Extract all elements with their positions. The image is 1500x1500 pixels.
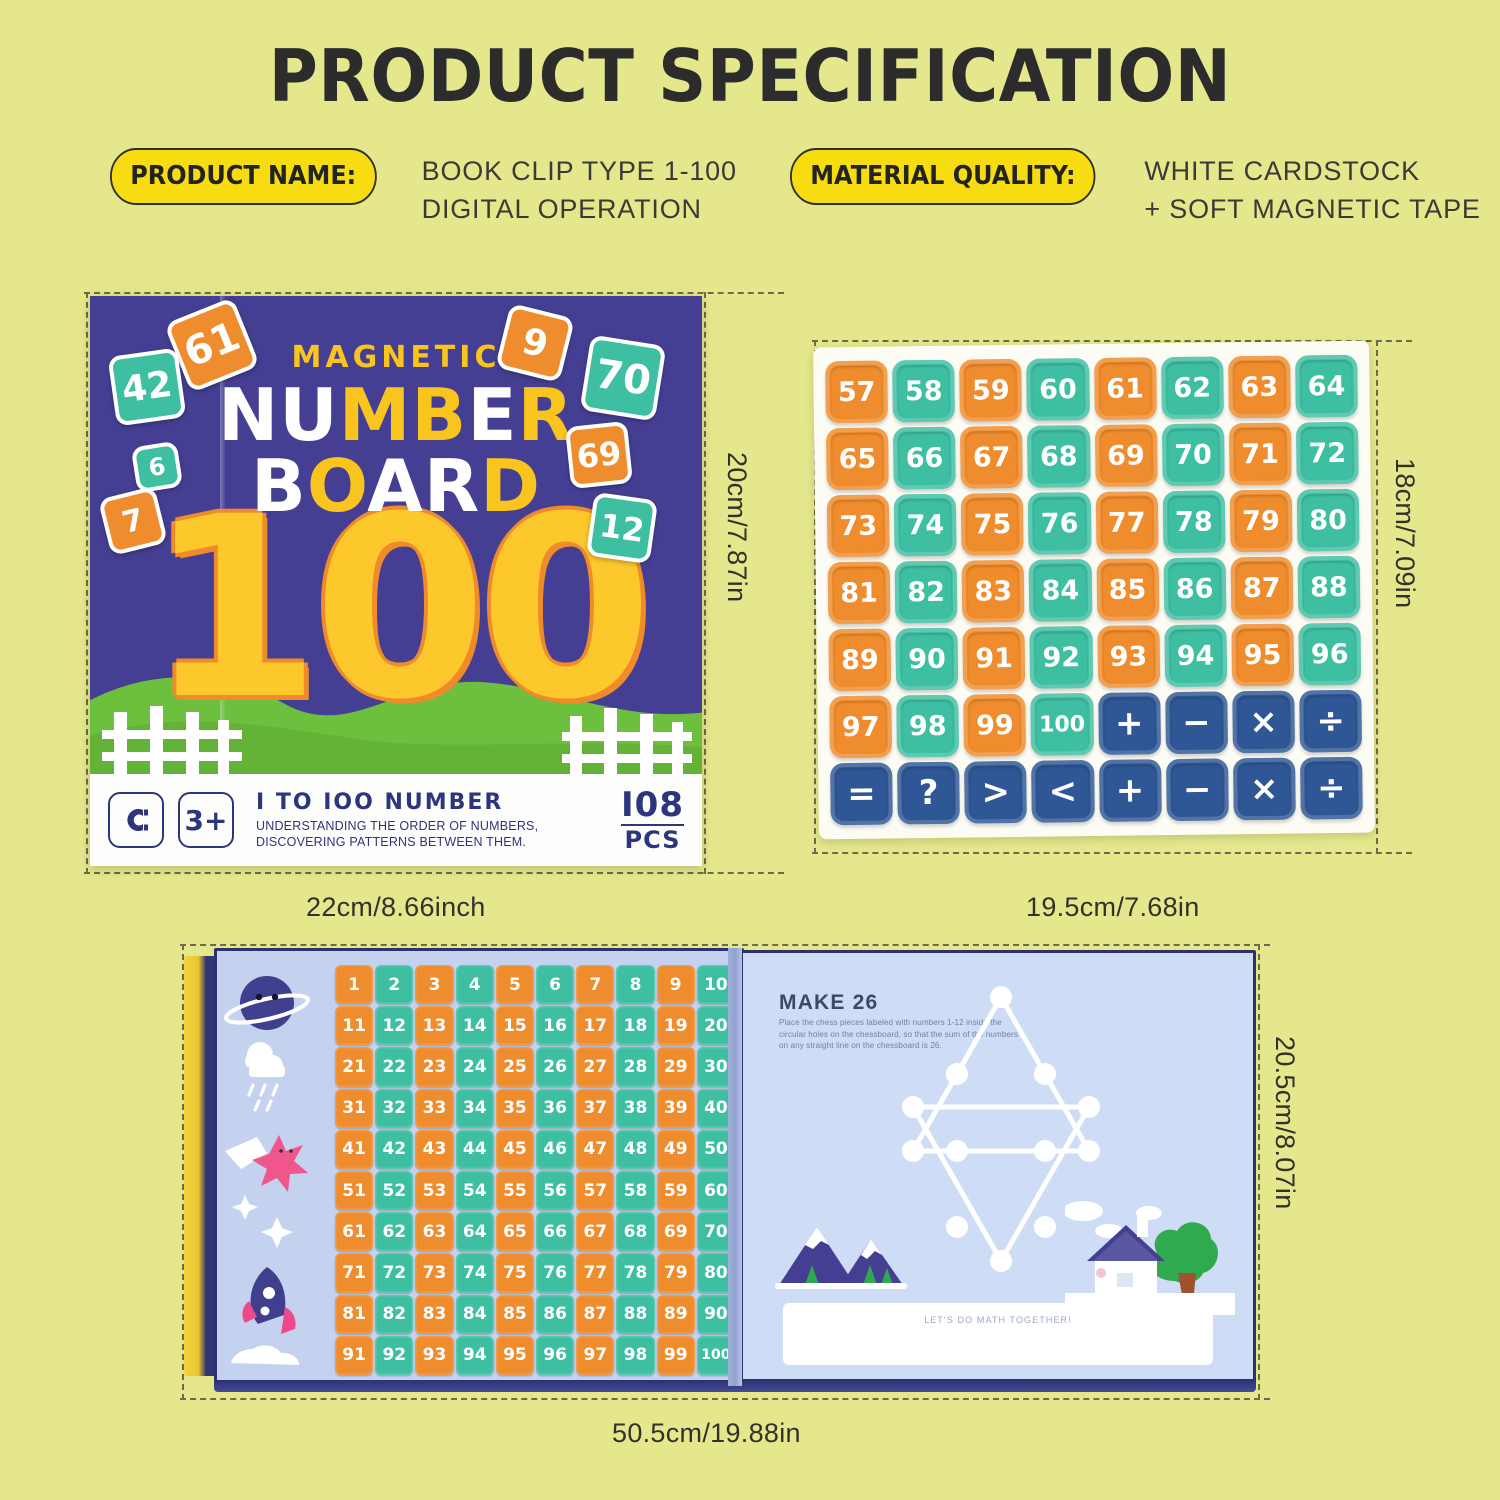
grid-number-tile[interactable]: 22 [375, 1047, 413, 1086]
box-guide-left [86, 292, 88, 874]
grid-number-tile[interactable]: 62 [375, 1212, 413, 1251]
planet-icon [224, 976, 310, 1030]
number-tile[interactable]: 61 [1094, 357, 1157, 420]
operator-tile[interactable]: × [1233, 758, 1296, 821]
house-tree-scene [1065, 1185, 1235, 1315]
grid-number-tile[interactable]: 24 [456, 1047, 494, 1086]
grid-number-tile[interactable]: 89 [657, 1295, 695, 1334]
grid-number-tile[interactable]: 95 [496, 1336, 534, 1375]
grid-number-tile[interactable]: 45 [496, 1130, 534, 1169]
grid-number-tile[interactable]: 85 [496, 1295, 534, 1334]
number-tile[interactable]: 79 [1230, 490, 1293, 553]
number-tile[interactable]: 60 [1027, 358, 1090, 421]
material-quality-value: WHITE CARDSTOCK + SOFT MAGNETIC TAPE [1144, 148, 1480, 229]
magnet-glyph [121, 805, 151, 835]
book-left-page: 1234567891011121314151617181920212223242… [214, 948, 744, 1386]
grid-number-tile[interactable]: 96 [536, 1336, 574, 1375]
grid-number-tile[interactable]: 5 [496, 965, 534, 1004]
magnet-icon [108, 792, 164, 848]
box-guide-bottom [84, 872, 784, 874]
spread-height-dim: 20.5cm/8.07in [1269, 1036, 1300, 1210]
product-box-cover: MAGNETIC NUMBER BOARD 100 6142679706912 … [90, 296, 702, 866]
number-tile[interactable]: 65 [826, 428, 889, 491]
grid-number-tile[interactable]: 38 [616, 1089, 654, 1128]
grid-number-tile[interactable]: 55 [496, 1171, 534, 1210]
operator-tile[interactable]: > [964, 761, 1027, 824]
grid-number-tile[interactable]: 4 [456, 965, 494, 1004]
grid-number-tile[interactable]: 17 [576, 1006, 614, 1045]
cover-headline: I TO IOO NUMBER [256, 790, 621, 815]
board-guide-right [1376, 340, 1378, 854]
spread-guide-top [180, 944, 1270, 946]
book-spine [728, 948, 742, 1386]
grid-number-tile[interactable]: 26 [536, 1047, 574, 1086]
grid-number-tile[interactable]: 33 [415, 1089, 453, 1128]
grid-number-tile[interactable]: 31 [335, 1089, 373, 1128]
grid-number-tile[interactable]: 3 [415, 965, 453, 1004]
operator-tile[interactable]: − [1166, 758, 1229, 821]
grid-number-tile[interactable]: 34 [456, 1089, 494, 1128]
grid-number-tile[interactable]: 21 [335, 1047, 373, 1086]
number-tile[interactable]: 98 [896, 695, 959, 758]
box-guide-top [84, 292, 784, 294]
grid-number-tile[interactable]: 68 [616, 1212, 654, 1251]
grid-number-tile[interactable]: 54 [456, 1171, 494, 1210]
space-decorations [223, 955, 319, 1385]
box-height-dim: 20cm/7.87in [721, 452, 752, 602]
number-tile[interactable]: 81 [828, 561, 891, 624]
grid-number-tile[interactable]: 69 [657, 1212, 695, 1251]
number-tile[interactable]: 84 [1029, 559, 1092, 622]
grid-number-tile[interactable]: 99 [657, 1336, 695, 1375]
cover-floating-tile: 42 [107, 347, 186, 426]
grid-number-tile[interactable]: 93 [415, 1336, 453, 1375]
pieces-number: I08 [621, 788, 684, 822]
number-tile[interactable]: 64 [1295, 355, 1358, 418]
grid-number-tile[interactable]: 64 [456, 1212, 494, 1251]
grid-number-tile[interactable]: 63 [415, 1212, 453, 1251]
cover-floating-tile: 12 [586, 492, 658, 564]
material-quality-label: MATERIAL QUALITY: [790, 148, 1096, 205]
number-tile[interactable]: 70 [1162, 423, 1225, 486]
number-tile[interactable]: 62 [1161, 356, 1224, 419]
grid-number-tile[interactable]: 41 [335, 1130, 373, 1169]
grid-number-tile[interactable]: 67 [576, 1212, 614, 1251]
grid-number-tile[interactable]: 84 [456, 1295, 494, 1334]
product-specification-page: PRODUCT SPECIFICATION PRODUCT NAME: BOOK… [0, 0, 1500, 1500]
grid-number-tile[interactable]: 52 [375, 1171, 413, 1210]
tree-icon [1151, 1222, 1218, 1303]
operator-tile[interactable]: ÷ [1299, 690, 1362, 753]
grid-number-tile[interactable]: 37 [576, 1089, 614, 1128]
number-tile[interactable]: 78 [1162, 490, 1225, 553]
spread-guide-right [1258, 944, 1260, 1400]
cloud-icon [1065, 1201, 1123, 1238]
spread-width-dim: 50.5cm/19.88in [612, 1418, 801, 1449]
grid-number-tile[interactable]: 27 [576, 1047, 614, 1086]
grid-number-tile[interactable]: 76 [536, 1253, 574, 1292]
box-guide-right [704, 292, 706, 874]
operator-tile[interactable]: + [1099, 759, 1162, 822]
shooting-star-icon [225, 1135, 308, 1192]
grid-number-tile[interactable]: 65 [496, 1212, 534, 1251]
number-tile[interactable]: 67 [960, 426, 1023, 489]
page-title: PRODUCT SPECIFICATION [53, 34, 1448, 118]
answer-box[interactable]: LET'S DO MATH TOGETHER! [783, 1303, 1213, 1365]
number-tile[interactable]: 59 [959, 359, 1022, 422]
number-tile[interactable]: 89 [828, 628, 891, 691]
number-tile[interactable]: 93 [1097, 625, 1160, 688]
grid-number-tile[interactable]: 42 [375, 1130, 413, 1169]
number-tile[interactable]: 99 [964, 694, 1027, 757]
grid-number-tile[interactable]: 82 [375, 1295, 413, 1334]
grid-number-tile[interactable]: 48 [616, 1130, 654, 1169]
number-tile[interactable]: 94 [1164, 624, 1227, 687]
operator-tile[interactable]: ? [897, 762, 960, 825]
grid-number-tile[interactable]: 53 [415, 1171, 453, 1210]
number-tile[interactable]: 85 [1096, 558, 1159, 621]
board-width-dim: 19.5cm/7.68in [1026, 892, 1200, 923]
operator-tile[interactable]: × [1232, 691, 1295, 754]
number-tile[interactable]: 77 [1095, 491, 1158, 554]
magnetic-tile-board: 5758596061626364656667686970717273747576… [813, 341, 1375, 840]
grid-number-tile[interactable]: 23 [415, 1047, 453, 1086]
number-tile[interactable]: 95 [1231, 624, 1294, 687]
grid-number-tile[interactable]: 72 [375, 1253, 413, 1292]
grid-number-tile[interactable]: 86 [536, 1295, 574, 1334]
box-width-dim: 22cm/8.66inch [306, 892, 486, 923]
grid-number-tile[interactable]: 14 [456, 1006, 494, 1045]
grid-number-tile[interactable]: 15 [496, 1006, 534, 1045]
number-tile[interactable]: 97 [829, 695, 892, 758]
number-tile[interactable]: 73 [827, 494, 890, 557]
grid-number-tile[interactable]: 36 [536, 1089, 574, 1128]
operator-tile[interactable]: + [1098, 692, 1161, 755]
grid-number-tile[interactable]: 94 [456, 1336, 494, 1375]
number-tile[interactable]: 83 [962, 560, 1025, 623]
operator-tile[interactable]: − [1165, 691, 1228, 754]
grid-number-tile[interactable]: 7 [576, 965, 614, 1004]
grid-number-tile[interactable]: 6 [536, 965, 574, 1004]
number-tile[interactable]: 92 [1030, 626, 1093, 689]
grid-number-tile[interactable]: 91 [335, 1336, 373, 1375]
open-book-spread: 1234567891011121314151617181920212223242… [184, 948, 1256, 1386]
operator-tile[interactable]: = [830, 762, 893, 825]
grid-number-tile[interactable]: 73 [415, 1253, 453, 1292]
house-icon [1087, 1206, 1165, 1295]
grid-number-tile[interactable]: 97 [576, 1336, 614, 1375]
grid-number-tile[interactable]: 11 [335, 1006, 373, 1045]
grid-number-tile[interactable]: 35 [496, 1089, 534, 1128]
grid-number-tile[interactable]: 78 [616, 1253, 654, 1292]
grid-number-tile[interactable]: 13 [415, 1006, 453, 1045]
number-tile[interactable]: 100 [1031, 693, 1094, 756]
grid-number-tile[interactable]: 61 [335, 1212, 373, 1251]
number-tile[interactable]: 76 [1028, 492, 1091, 555]
cover-info-bar: 3+ I TO IOO NUMBER UNDERSTANDING THE ORD… [90, 774, 702, 866]
number-tile[interactable]: 82 [895, 561, 958, 624]
grid-number-tile[interactable]: 59 [657, 1171, 695, 1210]
number-tile[interactable]: 86 [1163, 557, 1226, 620]
number-tile[interactable]: 57 [825, 361, 888, 424]
number-tile[interactable]: 75 [961, 493, 1024, 556]
cover-floating-tile: 70 [580, 335, 667, 422]
operator-tile[interactable]: < [1031, 760, 1094, 823]
answer-prompt: LET'S DO MATH TOGETHER! [783, 1315, 1213, 1325]
grid-number-tile[interactable]: 8 [616, 965, 654, 1004]
grid-number-tile[interactable]: 1 [335, 965, 373, 1004]
operator-tile[interactable]: ÷ [1300, 757, 1363, 820]
number-tile[interactable]: 66 [893, 427, 956, 490]
number-tile[interactable]: 80 [1297, 489, 1360, 552]
age-badge: 3+ [178, 792, 234, 848]
grid-number-tile[interactable]: 19 [657, 1006, 695, 1045]
grid-number-tile[interactable]: 25 [496, 1047, 534, 1086]
grid-number-tile[interactable]: 81 [335, 1295, 373, 1334]
number-tile[interactable]: 96 [1298, 623, 1361, 686]
grid-number-tile[interactable]: 75 [496, 1253, 534, 1292]
spec-row: PRODUCT NAME: BOOK CLIP TYPE 1-100 DIGIT… [0, 148, 1500, 244]
grid-number-tile[interactable]: 39 [657, 1089, 695, 1128]
grid-number-tile[interactable]: 57 [576, 1171, 614, 1210]
pieces-count-badge: I08 PCS [621, 788, 684, 853]
cover-floating-tile: 69 [565, 421, 633, 489]
number-tile[interactable]: 74 [894, 494, 957, 557]
grid-number-tile[interactable]: 71 [335, 1253, 373, 1292]
grid-number-tile[interactable]: 77 [576, 1253, 614, 1292]
number-tile[interactable]: 63 [1228, 356, 1291, 419]
number-tile[interactable]: 87 [1230, 557, 1293, 620]
grid-number-tile[interactable]: 44 [456, 1130, 494, 1169]
grid-number-tile[interactable]: 74 [456, 1253, 494, 1292]
number-tile[interactable]: 71 [1229, 423, 1292, 486]
grid-number-tile[interactable]: 98 [616, 1336, 654, 1375]
grid-number-tile[interactable]: 51 [335, 1171, 373, 1210]
grid-number-tile[interactable]: 66 [536, 1212, 574, 1251]
grid-number-tile[interactable]: 18 [616, 1006, 654, 1045]
spec-product-name: PRODUCT NAME: BOOK CLIP TYPE 1-100 DIGIT… [110, 148, 737, 229]
number-tile[interactable]: 88 [1297, 556, 1360, 619]
grid-number-tile[interactable]: 58 [616, 1171, 654, 1210]
grid-number-tile[interactable]: 43 [415, 1130, 453, 1169]
product-name-label: PRODUCT NAME: [110, 148, 376, 205]
board-guide-bottom [812, 852, 1412, 854]
grid-number-tile[interactable]: 16 [536, 1006, 574, 1045]
grid-number-tile[interactable]: 29 [657, 1047, 695, 1086]
mountain-icon [771, 1211, 911, 1291]
board-height-dim: 18cm/7.09in [1389, 458, 1420, 608]
number-tile[interactable]: 72 [1296, 422, 1359, 485]
number-tile[interactable]: 91 [963, 627, 1026, 690]
grid-number-tile[interactable]: 56 [536, 1171, 574, 1210]
pieces-unit: PCS [621, 828, 684, 852]
cover-floating-tile: 6 [131, 441, 184, 494]
grid-number-tile[interactable]: 92 [375, 1336, 413, 1375]
product-name-value: BOOK CLIP TYPE 1-100 DIGITAL OPERATION [422, 148, 737, 229]
book-right-page: MAKE 26 Place the chess pieces labeled w… [740, 950, 1256, 1382]
number-tile[interactable]: 69 [1094, 424, 1157, 487]
number-tile[interactable]: 58 [892, 360, 955, 423]
number-tile[interactable]: 68 [1027, 425, 1090, 488]
grid-number-tile[interactable]: 46 [536, 1130, 574, 1169]
rocket-icon [231, 1267, 299, 1365]
number-tile[interactable]: 90 [896, 628, 959, 691]
grid-number-tile[interactable]: 12 [375, 1006, 413, 1045]
star-icon [232, 1195, 293, 1248]
grid-number-tile[interactable]: 87 [576, 1295, 614, 1334]
grid-number-tile[interactable]: 49 [657, 1130, 695, 1169]
cover-description: I TO IOO NUMBER UNDERSTANDING THE ORDER … [256, 790, 621, 851]
spread-guide-bottom [180, 1398, 1270, 1400]
grid-number-tile[interactable]: 32 [375, 1089, 413, 1128]
hundred-number-grid: 1234567891011121314151617181920212223242… [335, 965, 735, 1375]
grid-number-tile[interactable]: 88 [616, 1295, 654, 1334]
cover-subline: UNDERSTANDING THE ORDER OF NUMBERS, DISC… [256, 818, 621, 851]
grid-number-tile[interactable]: 83 [415, 1295, 453, 1334]
grid-number-tile[interactable]: 47 [576, 1130, 614, 1169]
grid-number-tile[interactable]: 28 [616, 1047, 654, 1086]
grid-number-tile[interactable]: 9 [657, 965, 695, 1004]
grid-number-tile[interactable]: 2 [375, 965, 413, 1004]
grid-number-tile[interactable]: 79 [657, 1253, 695, 1292]
rain-cloud-icon [245, 1042, 285, 1110]
spec-material-quality: MATERIAL QUALITY: WHITE CARDSTOCK + SOFT… [790, 148, 1481, 229]
